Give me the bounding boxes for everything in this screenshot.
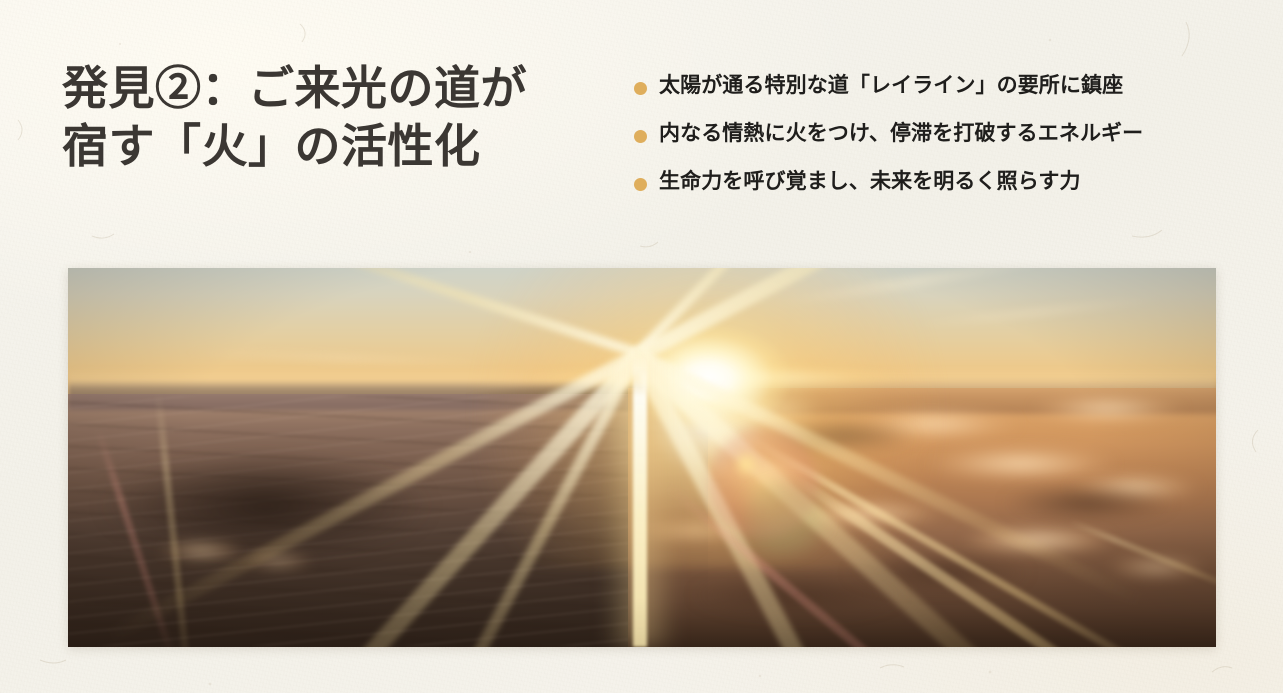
page-title: 発見②：ご来光の道が 宿す「火」の活性化 bbox=[62, 60, 602, 176]
sunrise-photo bbox=[68, 268, 1216, 647]
list-item: 内なる情熱に火をつけ、停滞を打破するエネルギー bbox=[634, 122, 1234, 170]
bullet-dot-icon bbox=[634, 178, 647, 191]
bullet-item-text-3: 生命力を呼び覚まし、未来を明るく照らす力 bbox=[659, 170, 1081, 194]
photo-vignette bbox=[68, 268, 1216, 647]
bullet-dot-icon bbox=[634, 130, 647, 143]
bullet-item-text-1: 太陽が通る特別な道「レイライン」の要所に鎮座 bbox=[659, 74, 1123, 98]
title-line-1: 発見②：ご来光の道が bbox=[62, 60, 602, 118]
slide-canvas: 発見②：ご来光の道が 宿す「火」の活性化 太陽が通る特別な道「レイライン」の要所… bbox=[0, 0, 1283, 693]
slide-header: 発見②：ご来光の道が 宿す「火」の活性化 太陽が通る特別な道「レイライン」の要所… bbox=[0, 0, 1283, 250]
bullet-item-text-2: 内なる情熱に火をつけ、停滞を打破するエネルギー bbox=[659, 122, 1143, 146]
list-item: 生命力を呼び覚まし、未来を明るく照らす力 bbox=[634, 170, 1234, 218]
bullet-dot-icon bbox=[634, 82, 647, 95]
title-line-2: 宿す「火」の活性化 bbox=[62, 118, 602, 176]
list-item: 太陽が通る特別な道「レイライン」の要所に鎮座 bbox=[634, 74, 1234, 122]
bullet-list: 太陽が通る特別な道「レイライン」の要所に鎮座 内なる情熱に火をつけ、停滞を打破す… bbox=[634, 74, 1234, 218]
